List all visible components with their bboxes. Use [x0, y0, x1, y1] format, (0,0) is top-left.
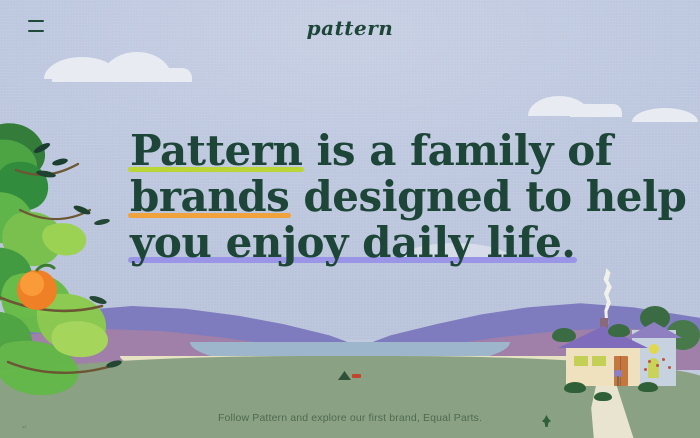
house-round-window — [649, 344, 659, 354]
brand-logo[interactable]: pattern — [0, 16, 700, 40]
site-header: pattern — [0, 0, 700, 52]
cloud-icon — [52, 68, 192, 82]
cloud-icon — [570, 104, 622, 117]
house-window — [592, 356, 606, 366]
foliage-svg — [0, 118, 126, 410]
flower-icon — [662, 358, 665, 361]
bush-icon — [638, 382, 658, 392]
headline-line-3: you enjoy daily life. — [130, 220, 600, 266]
bush-icon — [608, 324, 630, 337]
footer-caption[interactable]: Follow Pattern and explore our first bra… — [0, 412, 700, 424]
mailbox-post — [617, 376, 619, 386]
headline-highlight-pattern: Pattern — [130, 128, 302, 174]
headline-line-1: Pattern is a family of — [130, 128, 600, 174]
bush-icon — [594, 392, 612, 401]
headline-line-2-rest: designed to help — [289, 172, 686, 221]
flower-icon — [656, 364, 659, 367]
flower-icon — [668, 366, 671, 369]
headline-highlight-brands: brands — [130, 174, 289, 220]
headline-line-1-rest: is a family of — [302, 126, 612, 175]
corner-mark: ↵ — [22, 424, 28, 431]
hero-headline: Pattern is a family of brands designed t… — [130, 128, 600, 266]
tent-bag-icon — [352, 374, 361, 378]
bush-icon — [552, 328, 576, 342]
flower-icon — [648, 360, 651, 363]
headline-line-2: brands designed to help — [130, 174, 600, 220]
house-window — [574, 356, 588, 366]
bush-icon — [564, 382, 586, 393]
citrus-tree-foliage — [0, 118, 126, 410]
headline-highlight-daily-life: you enjoy daily life. — [130, 220, 575, 266]
flower-icon — [644, 368, 647, 371]
page-stage: pattern Pattern is a family of brands de… — [0, 0, 700, 438]
